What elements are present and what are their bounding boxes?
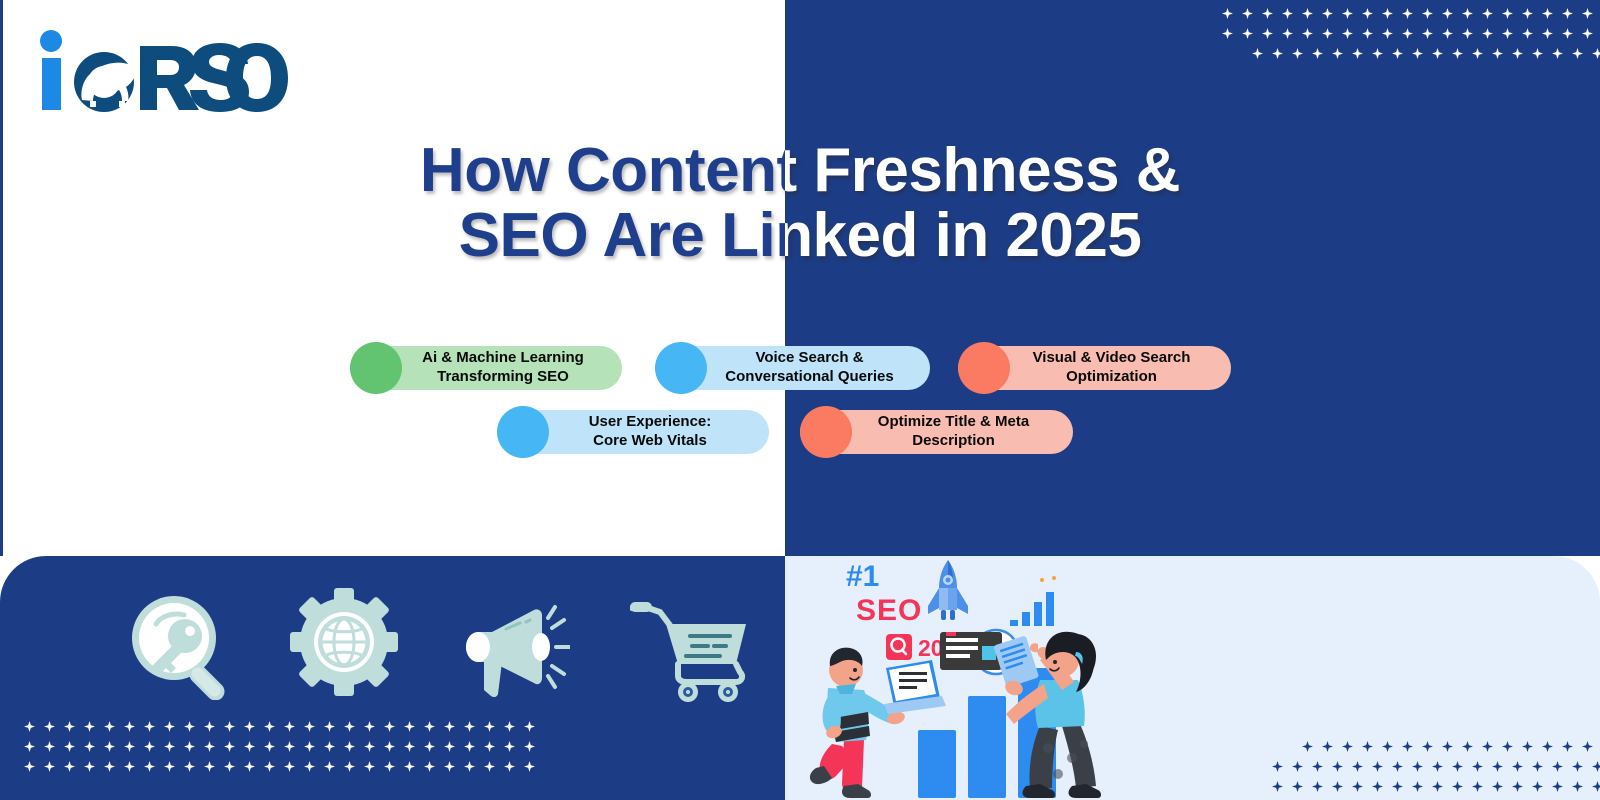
- topic-pill-optimize-title-meta[interactable]: Optimize Title & Meta Description: [800, 410, 1073, 454]
- dot-pattern-bottom-right: [1272, 741, 1600, 792]
- decorative-diamond-dot: [1252, 48, 1263, 59]
- decorative-diamond-dot: [1422, 8, 1433, 19]
- decorative-diamond-dot: [24, 721, 35, 732]
- decorative-diamond-dot: [144, 721, 155, 732]
- decorative-diamond-dot: [1322, 28, 1333, 39]
- decorative-diamond-dot: [524, 721, 535, 732]
- left-edge-accent: [0, 0, 3, 556]
- gear-globe-icon: [290, 588, 398, 701]
- decorative-diamond-dot: [1302, 741, 1313, 752]
- decorative-diamond-dot: [1572, 781, 1583, 792]
- decorative-diamond-dot: [1372, 781, 1383, 792]
- decorative-diamond-dot: [104, 761, 115, 772]
- decorative-diamond-dot: [1352, 761, 1363, 772]
- decorative-diamond-dot: [1572, 761, 1583, 772]
- decorative-diamond-dot: [1482, 28, 1493, 39]
- decorative-diamond-dot: [1472, 761, 1483, 772]
- dot-row: [24, 721, 535, 732]
- decorative-diamond-dot: [1382, 8, 1393, 19]
- decorative-diamond-dot: [384, 741, 395, 752]
- decorative-diamond-dot: [1262, 28, 1273, 39]
- decorative-diamond-dot: [184, 721, 195, 732]
- decorative-diamond-dot: [44, 741, 55, 752]
- decorative-diamond-dot: [204, 761, 215, 772]
- decorative-diamond-dot: [1492, 48, 1503, 59]
- decorative-diamond-dot: [1582, 8, 1593, 19]
- decorative-diamond-dot: [404, 721, 415, 732]
- decorative-diamond-dot: [1502, 28, 1513, 39]
- decorative-diamond-dot: [1362, 741, 1373, 752]
- decorative-diamond-dot: [1312, 761, 1323, 772]
- decorative-diamond-dot: [1532, 781, 1543, 792]
- dashboard-card: [940, 632, 1002, 670]
- dot-pattern-top-right: [1222, 8, 1600, 59]
- decorative-diamond-dot: [1432, 48, 1443, 59]
- decorative-diamond-dot: [264, 761, 275, 772]
- decorative-diamond-dot: [1442, 28, 1453, 39]
- topic-pill-voice-search[interactable]: Voice Search & Conversational Queries: [655, 346, 930, 390]
- decorative-diamond-dot: [104, 741, 115, 752]
- decorative-diamond-dot: [304, 761, 315, 772]
- decorative-diamond-dot: [1412, 761, 1423, 772]
- decorative-diamond-dot: [1342, 741, 1353, 752]
- decorative-diamond-dot: [1452, 781, 1463, 792]
- decorative-diamond-dot: [1462, 741, 1473, 752]
- decorative-diamond-dot: [124, 721, 135, 732]
- decorative-diamond-dot: [64, 721, 75, 732]
- decorative-diamond-dot: [1352, 48, 1363, 59]
- decorative-diamond-dot: [1332, 761, 1343, 772]
- decorative-diamond-dot: [1432, 761, 1443, 772]
- decorative-diamond-dot: [1502, 8, 1513, 19]
- decorative-diamond-dot: [304, 721, 315, 732]
- decorative-diamond-dot: [1482, 741, 1493, 752]
- magnifier-key-icon: [128, 592, 236, 705]
- decorative-diamond-dot: [444, 741, 455, 752]
- shopping-cart-icon: [630, 598, 750, 707]
- decorative-diamond-dot: [1292, 781, 1303, 792]
- pill-label: Visual & Video Search Optimization: [958, 349, 1231, 387]
- decorative-diamond-dot: [504, 741, 515, 752]
- decorative-diamond-dot: [364, 761, 375, 772]
- decorative-diamond-dot: [1362, 8, 1373, 19]
- decorative-diamond-dot: [64, 761, 75, 772]
- rank-label: #1: [846, 560, 879, 593]
- decorative-diamond-dot: [1552, 781, 1563, 792]
- decorative-diamond-dot: [1402, 28, 1413, 39]
- decorative-diamond-dot: [164, 741, 175, 752]
- decorative-diamond-dot: [44, 761, 55, 772]
- decorative-diamond-dot: [364, 741, 375, 752]
- dot-row: [1222, 28, 1600, 39]
- decorative-diamond-dot: [1512, 761, 1523, 772]
- decorative-diamond-dot: [1342, 28, 1353, 39]
- decorative-diamond-dot: [1242, 8, 1253, 19]
- seo-team-illustration: #1 SEO 2025: [800, 548, 1120, 800]
- decorative-diamond-dot: [1562, 741, 1573, 752]
- decorative-diamond-dot: [1502, 741, 1513, 752]
- decorative-diamond-dot: [324, 721, 335, 732]
- decorative-diamond-dot: [324, 761, 335, 772]
- decorative-diamond-dot: [1242, 28, 1253, 39]
- dot-row: [1272, 761, 1600, 772]
- decorative-diamond-dot: [1522, 741, 1533, 752]
- decorative-diamond-dot: [1332, 781, 1343, 792]
- decorative-diamond-dot: [1472, 48, 1483, 59]
- decorative-diamond-dot: [1302, 28, 1313, 39]
- mini-bar-chart: [1010, 576, 1056, 626]
- decorative-diamond-dot: [84, 761, 95, 772]
- decorative-diamond-dot: [1222, 28, 1233, 39]
- decorative-diamond-dot: [124, 741, 135, 752]
- decorative-diamond-dot: [164, 721, 175, 732]
- decorative-diamond-dot: [1492, 761, 1503, 772]
- dot-pattern-bottom-left: [24, 721, 535, 772]
- decorative-diamond-dot: [1542, 741, 1553, 752]
- decorative-diamond-dot: [1272, 781, 1283, 792]
- decorative-diamond-dot: [1282, 8, 1293, 19]
- decorative-diamond-dot: [464, 741, 475, 752]
- decorative-diamond-dot: [224, 741, 235, 752]
- decorative-diamond-dot: [284, 761, 295, 772]
- decorative-diamond-dot: [424, 761, 435, 772]
- decorative-diamond-dot: [344, 741, 355, 752]
- decorative-diamond-dot: [144, 741, 155, 752]
- decorative-diamond-dot: [1582, 28, 1593, 39]
- decorative-diamond-dot: [404, 761, 415, 772]
- pill-label: Ai & Machine Learning Transforming SEO: [350, 349, 622, 387]
- decorative-diamond-dot: [1472, 781, 1483, 792]
- decorative-diamond-dot: [24, 741, 35, 752]
- megaphone-icon: [462, 600, 570, 705]
- decorative-diamond-dot: [1562, 8, 1573, 19]
- decorative-diamond-dot: [1512, 48, 1523, 59]
- decorative-diamond-dot: [424, 721, 435, 732]
- decorative-diamond-dot: [204, 741, 215, 752]
- decorative-diamond-dot: [1572, 48, 1583, 59]
- decorative-diamond-dot: [1412, 781, 1423, 792]
- dot-row: [1252, 48, 1600, 59]
- decorative-diamond-dot: [524, 741, 535, 752]
- decorative-diamond-dot: [1372, 48, 1383, 59]
- decorative-diamond-dot: [1282, 28, 1293, 39]
- decorative-diamond-dot: [1512, 781, 1523, 792]
- decorative-diamond-dot: [1402, 8, 1413, 19]
- decorative-diamond-dot: [1332, 48, 1343, 59]
- decorative-diamond-dot: [1522, 8, 1533, 19]
- decorative-diamond-dot: [304, 741, 315, 752]
- decorative-diamond-dot: [1492, 781, 1503, 792]
- decorative-diamond-dot: [1412, 48, 1423, 59]
- decorative-diamond-dot: [1362, 28, 1373, 39]
- decorative-diamond-dot: [1552, 48, 1563, 59]
- decorative-diamond-dot: [64, 741, 75, 752]
- decorative-diamond-dot: [1382, 741, 1393, 752]
- decorative-diamond-dot: [1562, 28, 1573, 39]
- decorative-diamond-dot: [284, 721, 295, 732]
- decorative-diamond-dot: [164, 761, 175, 772]
- pill-label: User Experience: Core Web Vitals: [497, 413, 769, 451]
- decorative-diamond-dot: [1272, 761, 1283, 772]
- decorative-diamond-dot: [1222, 8, 1233, 19]
- decorative-diamond-dot: [1592, 48, 1600, 59]
- decorative-diamond-dot: [1542, 28, 1553, 39]
- decorative-diamond-dot: [1392, 48, 1403, 59]
- topic-pill-ai-machine-learning[interactable]: Ai & Machine Learning Transforming SEO: [350, 346, 622, 390]
- decorative-diamond-dot: [484, 721, 495, 732]
- decorative-diamond-dot: [1352, 781, 1363, 792]
- decorative-diamond-dot: [1462, 28, 1473, 39]
- decorative-diamond-dot: [264, 741, 275, 752]
- decorative-diamond-dot: [1452, 761, 1463, 772]
- decorative-diamond-dot: [384, 721, 395, 732]
- decorative-diamond-dot: [1342, 8, 1353, 19]
- decorative-diamond-dot: [124, 761, 135, 772]
- decorative-diamond-dot: [484, 761, 495, 772]
- decorative-diamond-dot: [1452, 48, 1463, 59]
- pill-label: Optimize Title & Meta Description: [800, 413, 1073, 451]
- decorative-diamond-dot: [1592, 781, 1600, 792]
- decorative-diamond-dot: [1312, 48, 1323, 59]
- decorative-diamond-dot: [504, 761, 515, 772]
- decorative-diamond-dot: [1442, 8, 1453, 19]
- decorative-diamond-dot: [1462, 8, 1473, 19]
- decorative-diamond-dot: [1542, 8, 1553, 19]
- decorative-diamond-dot: [1532, 48, 1543, 59]
- seo-label: SEO: [856, 594, 922, 627]
- decorative-diamond-dot: [1292, 761, 1303, 772]
- topic-pill-user-experience[interactable]: User Experience: Core Web Vitals: [497, 410, 769, 454]
- decorative-diamond-dot: [444, 761, 455, 772]
- decorative-diamond-dot: [24, 761, 35, 772]
- decorative-diamond-dot: [464, 761, 475, 772]
- decorative-diamond-dot: [1382, 28, 1393, 39]
- decorative-diamond-dot: [1392, 781, 1403, 792]
- decorative-diamond-dot: [324, 741, 335, 752]
- decorative-diamond-dot: [464, 721, 475, 732]
- decorative-diamond-dot: [264, 721, 275, 732]
- decorative-diamond-dot: [204, 721, 215, 732]
- decorative-diamond-dot: [184, 761, 195, 772]
- decorative-diamond-dot: [244, 721, 255, 732]
- decorative-diamond-dot: [84, 721, 95, 732]
- decorative-diamond-dot: [1402, 741, 1413, 752]
- decorative-diamond-dot: [44, 721, 55, 732]
- decorative-diamond-dot: [1442, 741, 1453, 752]
- dot-row: [1222, 8, 1600, 19]
- decorative-diamond-dot: [1532, 761, 1543, 772]
- dot-row: [1272, 781, 1600, 792]
- decorative-diamond-dot: [1432, 781, 1443, 792]
- decorative-diamond-dot: [484, 741, 495, 752]
- background-right-navy: [785, 0, 1600, 556]
- topic-pill-visual-video-search[interactable]: Visual & Video Search Optimization: [958, 346, 1231, 390]
- decorative-diamond-dot: [1552, 761, 1563, 772]
- decorative-diamond-dot: [444, 721, 455, 732]
- decorative-diamond-dot: [1292, 48, 1303, 59]
- decorative-diamond-dot: [1422, 741, 1433, 752]
- decorative-diamond-dot: [344, 761, 355, 772]
- decorative-diamond-dot: [1302, 8, 1313, 19]
- pill-label: Voice Search & Conversational Queries: [655, 349, 930, 387]
- decorative-diamond-dot: [344, 721, 355, 732]
- decorative-diamond-dot: [364, 721, 375, 732]
- decorative-diamond-dot: [504, 721, 515, 732]
- woman-pointing: [993, 632, 1101, 798]
- decorative-diamond-dot: [1372, 761, 1383, 772]
- dot-row: [24, 741, 535, 752]
- decorative-diamond-dot: [224, 761, 235, 772]
- decorative-diamond-dot: [1312, 781, 1323, 792]
- brand-logo[interactable]: [36, 28, 296, 112]
- decorative-diamond-dot: [384, 761, 395, 772]
- decorative-diamond-dot: [1582, 741, 1593, 752]
- decorative-diamond-dot: [1522, 28, 1533, 39]
- dot-row: [1302, 741, 1600, 752]
- decorative-diamond-dot: [1262, 8, 1273, 19]
- infographic-banner: How Content Freshness & How Content Fres…: [0, 0, 1600, 800]
- decorative-diamond-dot: [404, 741, 415, 752]
- decorative-diamond-dot: [1392, 761, 1403, 772]
- decorative-diamond-dot: [1322, 741, 1333, 752]
- decorative-diamond-dot: [184, 741, 195, 752]
- rocket-icon: [928, 560, 968, 620]
- decorative-diamond-dot: [244, 741, 255, 752]
- decorative-diamond-dot: [244, 761, 255, 772]
- decorative-diamond-dot: [144, 761, 155, 772]
- decorative-diamond-dot: [424, 741, 435, 752]
- dot-row: [24, 761, 535, 772]
- decorative-diamond-dot: [104, 721, 115, 732]
- decorative-diamond-dot: [284, 741, 295, 752]
- decorative-diamond-dot: [1272, 48, 1283, 59]
- decorative-diamond-dot: [524, 761, 535, 772]
- decorative-diamond-dot: [84, 741, 95, 752]
- decorative-diamond-dot: [224, 721, 235, 732]
- decorative-diamond-dot: [1482, 8, 1493, 19]
- decorative-diamond-dot: [1592, 761, 1600, 772]
- decorative-diamond-dot: [1322, 8, 1333, 19]
- decorative-diamond-dot: [1422, 28, 1433, 39]
